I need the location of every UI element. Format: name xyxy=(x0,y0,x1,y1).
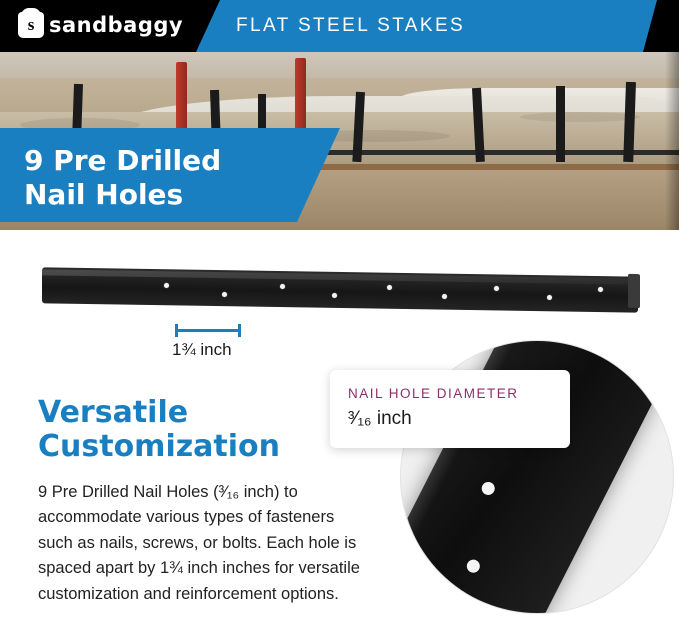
nail-hole xyxy=(280,284,285,289)
dimension-cap-right xyxy=(238,324,241,337)
section-body-copy: 9 Pre Drilled Nail Holes (³⁄₁₆ inch) to … xyxy=(38,480,368,607)
stake-body xyxy=(42,267,638,312)
spec-card-title: NAIL HOLE DIAMETER xyxy=(348,386,519,401)
nail-hole xyxy=(442,294,447,299)
product-infographic: s sandbaggy FLAT STEEL STAKES xyxy=(0,0,679,627)
zoomed-nail-hole xyxy=(465,557,482,574)
section-headline: Versatile Customization xyxy=(38,396,338,463)
brand-initial: s xyxy=(28,12,35,38)
section-headline-line1: Versatile xyxy=(38,396,338,430)
nail-hole xyxy=(547,295,552,300)
header-title: FLAT STEEL STAKES xyxy=(236,15,465,37)
nail-hole xyxy=(387,285,392,290)
feature-banner: 9 Pre Drilled Nail Holes xyxy=(0,128,340,222)
nail-hole xyxy=(332,293,337,298)
sandbag-icon: s xyxy=(18,12,44,38)
spec-callout-card: NAIL HOLE DIAMETER ³⁄₁₆ inch xyxy=(330,370,570,448)
nail-hole xyxy=(494,286,499,291)
nail-hole xyxy=(222,292,227,297)
brand-name: sandbaggy xyxy=(49,13,183,37)
nail-hole xyxy=(598,287,603,292)
dimension-line xyxy=(175,329,241,332)
feature-banner-line1: 9 Pre Drilled xyxy=(24,144,221,178)
stake-end-cap xyxy=(628,274,640,308)
brand-logo: s sandbaggy xyxy=(18,12,183,38)
zoomed-nail-hole xyxy=(479,480,496,497)
nail-hole xyxy=(164,283,169,288)
spacing-dimension-bar xyxy=(175,324,241,336)
spec-card-value: ³⁄₁₆ inch xyxy=(348,408,412,430)
photo-steel-stake xyxy=(556,86,565,162)
photo-edge-shadow xyxy=(665,52,679,230)
photo-red-post xyxy=(295,58,306,138)
photo-dirt-texture xyxy=(520,112,640,122)
spacing-dimension-label: 1¾ inch xyxy=(172,340,292,360)
feature-banner-text: 9 Pre Drilled Nail Holes xyxy=(24,144,221,212)
feature-banner-line2: Nail Holes xyxy=(24,178,221,212)
section-headline-line2: Customization xyxy=(38,430,338,464)
stake-diagram xyxy=(42,272,638,318)
header-bar: s sandbaggy FLAT STEEL STAKES xyxy=(0,0,679,52)
